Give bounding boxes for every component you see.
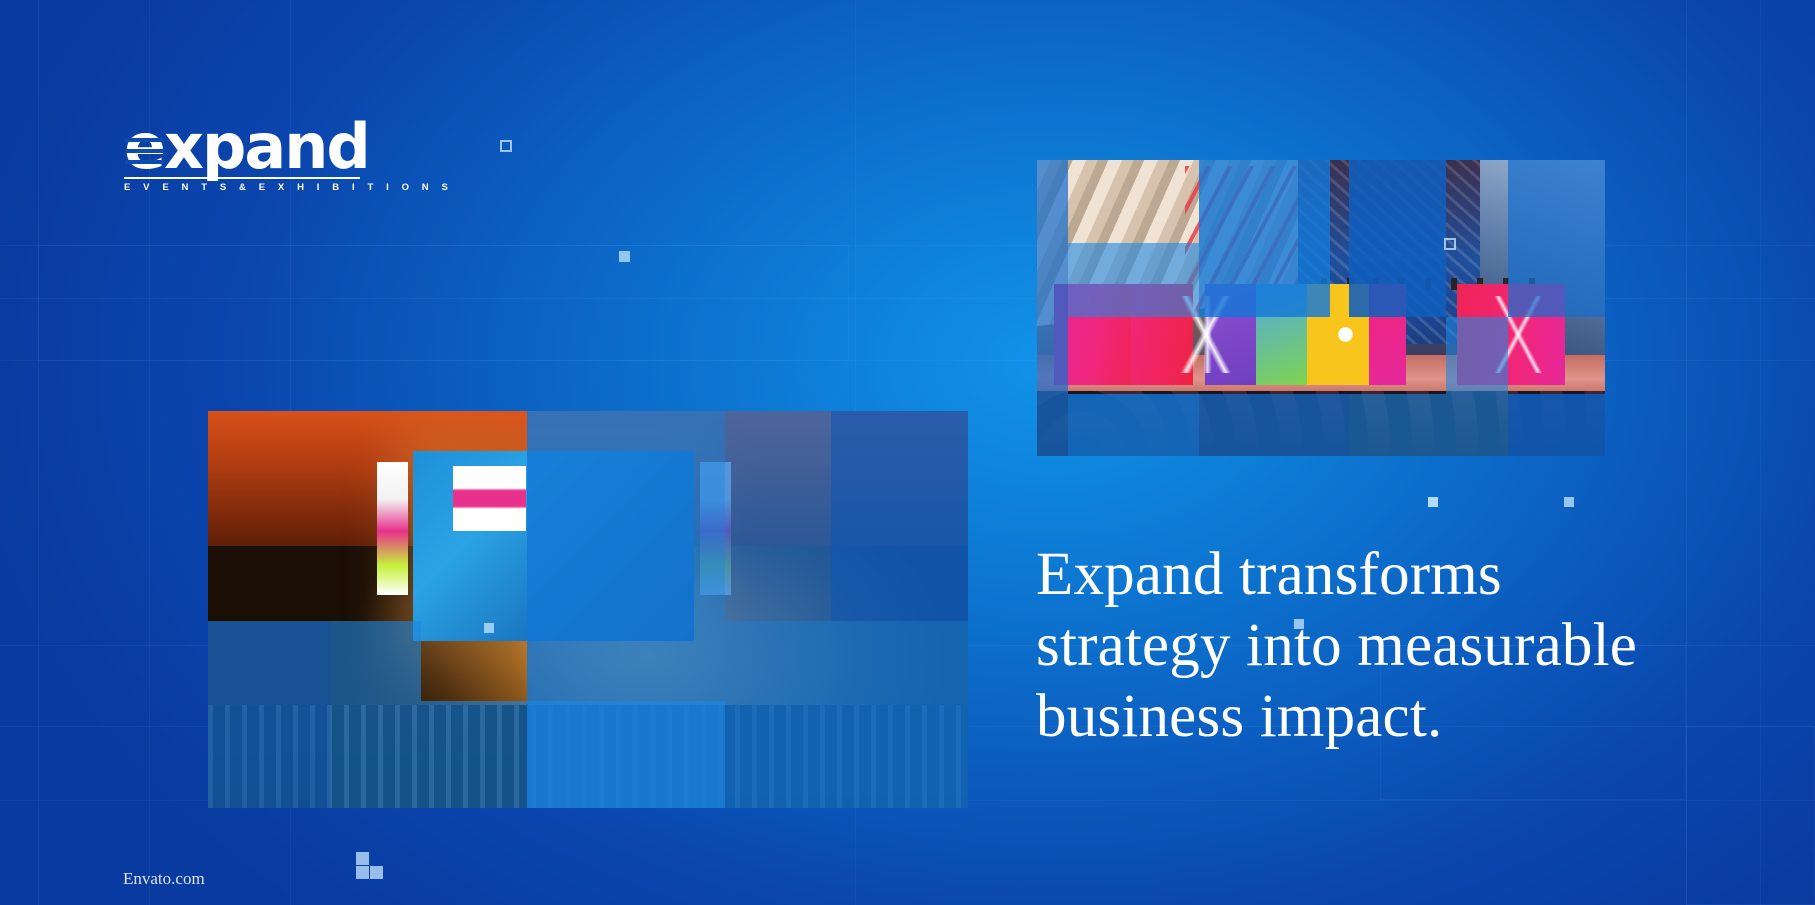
square-filled-r1	[1428, 497, 1438, 507]
event-photo-outdoor-stage[interactable]	[208, 411, 968, 808]
square-outline-top	[500, 140, 512, 152]
mosaic-tile	[1508, 394, 1605, 456]
expand-logo[interactable]: expand E V E N T S & E X H I B I T I O N…	[124, 118, 360, 193]
logo-tagline: E V E N T S & E X H I B I T I O N S	[124, 182, 360, 193]
mosaic-tile	[1446, 317, 1508, 394]
mosaic-tile	[1068, 243, 1199, 317]
mosaic-tile	[725, 411, 831, 621]
mosaic-tile	[1068, 394, 1199, 456]
watermark-label: Envato.com	[123, 869, 205, 889]
stage-banner	[453, 466, 526, 531]
grid-box	[1686, 726, 1815, 905]
mosaic-tile	[1199, 394, 1350, 456]
mosaic-tile	[208, 621, 330, 808]
square-filled-r2	[1564, 497, 1574, 507]
mosaic-tile	[1349, 160, 1446, 317]
grid-line-v	[1686, 0, 1687, 905]
mosaic-tile	[1199, 160, 1330, 317]
slide-canvas: expand E V E N T S & E X H I B I T I O N…	[0, 0, 1815, 905]
event-photo-conference-hall[interactable]	[1037, 160, 1605, 456]
mosaic-tile	[1349, 394, 1508, 456]
mosaic-tile	[1037, 160, 1068, 456]
square-filled-upper	[619, 251, 630, 262]
mosaic-tile	[725, 621, 968, 808]
mosaic-tile	[421, 701, 725, 808]
stage-screen-left	[377, 462, 408, 595]
square-filled-midleft	[484, 623, 494, 633]
mosaic-tile	[831, 411, 968, 621]
square-filled-r3	[1294, 619, 1304, 629]
mosaic-tile	[1508, 160, 1605, 317]
square-cluster-b	[356, 866, 369, 879]
grid-box	[38, 245, 849, 361]
mosaic-tile	[330, 621, 421, 808]
grid-line-v	[38, 0, 39, 905]
square-outline-right	[1444, 238, 1456, 250]
square-cluster-c	[370, 866, 383, 879]
page-title: Expand transforms strategy into measurab…	[1036, 540, 1696, 752]
grid-line-v	[1760, 0, 1761, 905]
logo-wordmark: expand	[124, 118, 360, 175]
square-cluster-a	[356, 852, 369, 865]
